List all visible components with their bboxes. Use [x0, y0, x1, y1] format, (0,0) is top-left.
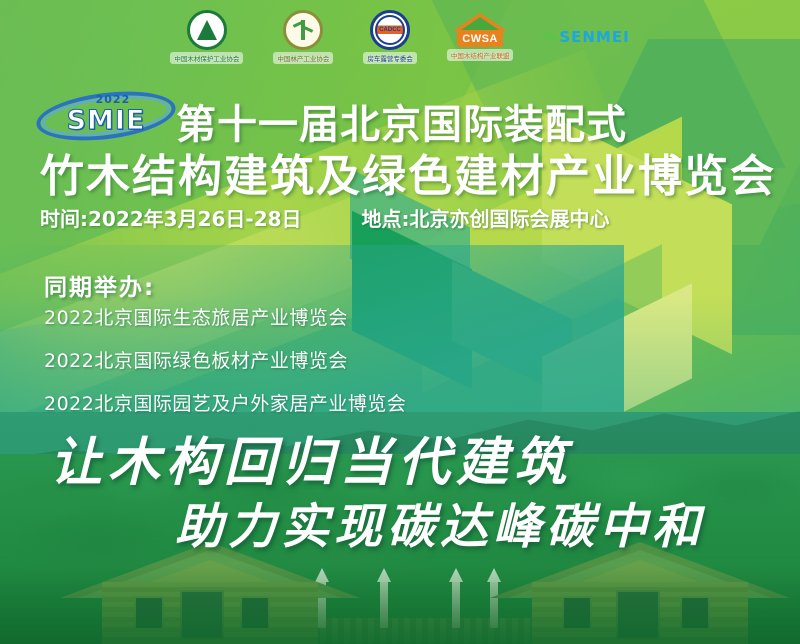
smie-wordmark: SMIE	[67, 105, 146, 136]
page-title-line-2: 竹木结构建筑及绿色建材产业博览会	[40, 140, 776, 204]
cadcc-roundel-icon: CADCC	[370, 10, 410, 50]
pine-tree-emblem-icon	[187, 10, 227, 50]
sponsor-logo-cwsa: CWSA 中国木结构产业联盟	[447, 13, 514, 61]
exhibition-poster: 中国木材保护工业协会 中国林产工业协会 CADCC 房车露营专委会 CWSA	[0, 0, 800, 644]
poster-content: 中国木材保护工业协会 中国林产工业协会 CADCC 房车露营专委会 CWSA	[0, 0, 800, 644]
sponsor-logo-strip: 中国木材保护工业协会 中国林产工业协会 CADCC 房车露营专委会 CWSA	[0, 10, 800, 64]
concurrent-events-list: 2022北京国际生态旅居产业博览会 2022北京国际绿色板材产业博览会 2022…	[44, 303, 406, 432]
sponsor-logo-senmei: SENMEI	[543, 28, 629, 46]
cwsa-abbr: CWSA	[457, 31, 503, 47]
house-roof-icon: CWSA	[453, 13, 507, 47]
cadcc-abbr: CADCC	[375, 15, 405, 45]
bamboo-emblem-icon	[283, 10, 323, 50]
leaf-wordmark-icon: SENMEI	[543, 28, 629, 46]
event-meta: 时间:2022年3月26日-28日 地点:北京亦创国际会展中心	[40, 203, 610, 232]
senmei-wordmark: SENMEI	[559, 28, 629, 46]
list-item: 2022北京国际生态旅居产业博览会	[44, 303, 406, 330]
house-roof-inner-shape	[461, 17, 499, 30]
sponsor-logo-caption: 中国林产工业协会	[273, 52, 333, 64]
sponsor-logo-bamboo-association: 中国林产工业协会	[273, 10, 333, 64]
sponsor-logo-caption: 中国木材保护工业协会	[170, 52, 243, 64]
slogan-line-2: 助力实现碳达峰碳中和	[175, 487, 705, 557]
leaf-shape	[542, 29, 559, 45]
concurrent-events-heading: 同期举办:	[44, 268, 155, 302]
sponsor-logo-caption: 房车露营专委会	[363, 52, 417, 64]
event-date: 时间:2022年3月26日-28日	[40, 203, 302, 232]
event-venue: 地点:北京亦创国际会展中心	[362, 203, 610, 232]
list-item: 2022北京国际绿色板材产业博览会	[44, 346, 406, 373]
pine-tree-shape	[197, 20, 217, 40]
smie-emblem: 2022 SMIE	[36, 93, 176, 139]
sponsor-logo-caption: 中国木结构产业联盟	[447, 49, 514, 61]
sponsor-logo-cadcc: CADCC 房车露营专委会	[363, 10, 417, 64]
slogan-line-1: 让木构回归当代建筑	[50, 420, 572, 495]
bamboo-shape	[301, 20, 305, 40]
sponsor-logo-china-timber: 中国木材保护工业协会	[170, 10, 243, 64]
list-item: 2022北京国际园艺及户外家居产业博览会	[44, 389, 406, 416]
